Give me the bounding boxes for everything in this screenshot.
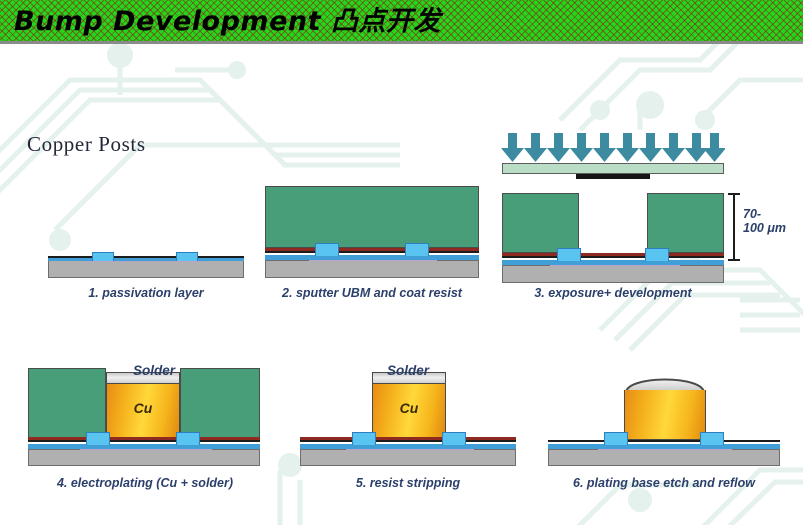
caption-step-6: 6. plating base etch and reflow [540,476,788,490]
substrate-layer [548,449,780,466]
caption-step-3: 3. exposure+ development [500,286,726,300]
substrate-layer [502,265,724,283]
solder-label-step-4: Solder [133,363,175,378]
photoresist-blanket [265,186,479,248]
passivation-layer [28,444,260,449]
chrome-pattern [576,174,650,179]
solder-label-step-5: Solder [387,363,429,378]
ubm-pad-right [700,432,724,445]
thickness-annotation: 70- 100 μm [728,193,798,263]
ubm-pad-right [442,432,466,445]
section-heading: Copper Posts [27,132,146,157]
figure-step-3 [502,193,724,278]
photomask-assembly [502,163,724,181]
passivation-layer [265,255,479,260]
copper-post [624,390,706,440]
resist-block-right [180,368,260,438]
substrate-layer [48,260,244,278]
thickness-value-line-1: 70- [743,207,761,221]
photomask-plate [502,163,724,174]
dimension-cap-top [728,193,740,195]
figure-step-4: Cu [28,368,260,460]
surface-line [28,440,260,442]
page-title: Bump Development 凸点开发 [14,2,441,42]
ubm-pad-right [176,252,198,261]
substrate-layer [265,260,479,278]
ubm-pad-left [352,432,376,445]
ubm-pad-left [557,248,581,261]
figure-step-2 [265,186,479,278]
ubm-pad-right [645,248,669,261]
figure-step-6 [548,368,780,460]
substrate-layer [300,449,516,466]
figure-step-5: Cu [300,368,516,460]
copper-label: Cu [372,400,446,416]
surface-line [48,256,244,258]
copper-label: Cu [106,400,180,416]
surface-line [265,251,479,253]
exposure-light-arrows [500,133,725,163]
surface-line [548,440,780,442]
passivation-layer [300,444,516,449]
ubm-pad-left [604,432,628,445]
passivation-layer [548,444,780,449]
ubm-pad-right [176,432,200,445]
ubm-pad-right [405,243,429,256]
resist-block-left [28,368,106,438]
substrate-layer [28,449,260,466]
ubm-pad-left [315,243,339,256]
surface-line [502,256,724,258]
title-bar: Bump Development 凸点开发 [0,0,803,44]
surface-line [300,440,516,442]
resist-block-right [647,193,724,253]
figure-step-1 [48,252,244,278]
caption-step-5: 5. resist stripping [300,476,516,490]
caption-step-1: 1. passivation layer [48,286,244,300]
caption-step-2: 2. sputter UBM and coat resist [258,286,486,300]
dimension-vertical-line [733,193,735,261]
ubm-pad-left [86,432,110,445]
passivation-layer [502,260,724,265]
resist-block-left [502,193,579,253]
caption-step-4: 4. electroplating (Cu + solder) [22,476,268,490]
thickness-value-line-2: 100 μm [743,221,786,235]
ubm-pad-left [92,252,114,261]
passivation-layer [48,257,244,261]
dimension-cap-bottom [728,259,740,261]
